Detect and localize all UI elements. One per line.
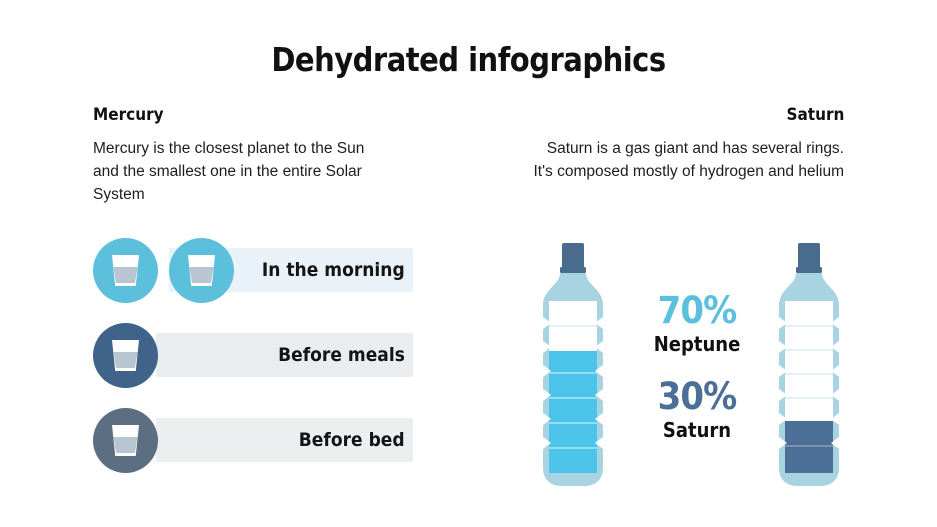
page-title: Dehydrated infographics xyxy=(56,40,881,79)
bottle-neptune xyxy=(530,243,616,488)
water-glass-icon xyxy=(93,323,158,388)
column-heading-mercury: Mercury xyxy=(93,105,164,125)
list-item[interactable]: Before bed xyxy=(93,408,413,473)
water-glass-icon xyxy=(93,238,158,303)
water-glass-icon xyxy=(169,238,234,303)
stat-label: Saturn xyxy=(643,418,751,442)
list-item[interactable]: In the morning xyxy=(93,238,413,303)
list-item[interactable]: Before meals xyxy=(93,323,413,388)
column-body-mercury: Mercury is the closest planet to the Sun… xyxy=(93,138,393,206)
water-glass-icon xyxy=(93,408,158,473)
schedule-row-label: In the morning xyxy=(262,248,405,292)
bottle-saturn xyxy=(766,243,852,488)
stat-percent: 30% xyxy=(642,378,752,415)
stats-block: 70% Neptune 30% Saturn xyxy=(637,292,757,464)
stat-label: Neptune xyxy=(643,332,751,356)
schedule-row-label: Before bed xyxy=(299,418,405,462)
hydration-schedule-list: In the morning Before meals Before bed xyxy=(93,238,413,493)
schedule-row-label: Before meals xyxy=(278,333,405,377)
stat-percent: 70% xyxy=(642,292,752,329)
column-body-saturn: Saturn is a gas giant and has several ri… xyxy=(524,138,844,184)
column-heading-saturn: Saturn xyxy=(786,105,844,125)
stat-saturn: 30% Saturn xyxy=(637,378,757,442)
stat-neptune: 70% Neptune xyxy=(637,292,757,356)
infographic-slide: Dehydrated infographics Mercury Mercury … xyxy=(0,0,937,527)
